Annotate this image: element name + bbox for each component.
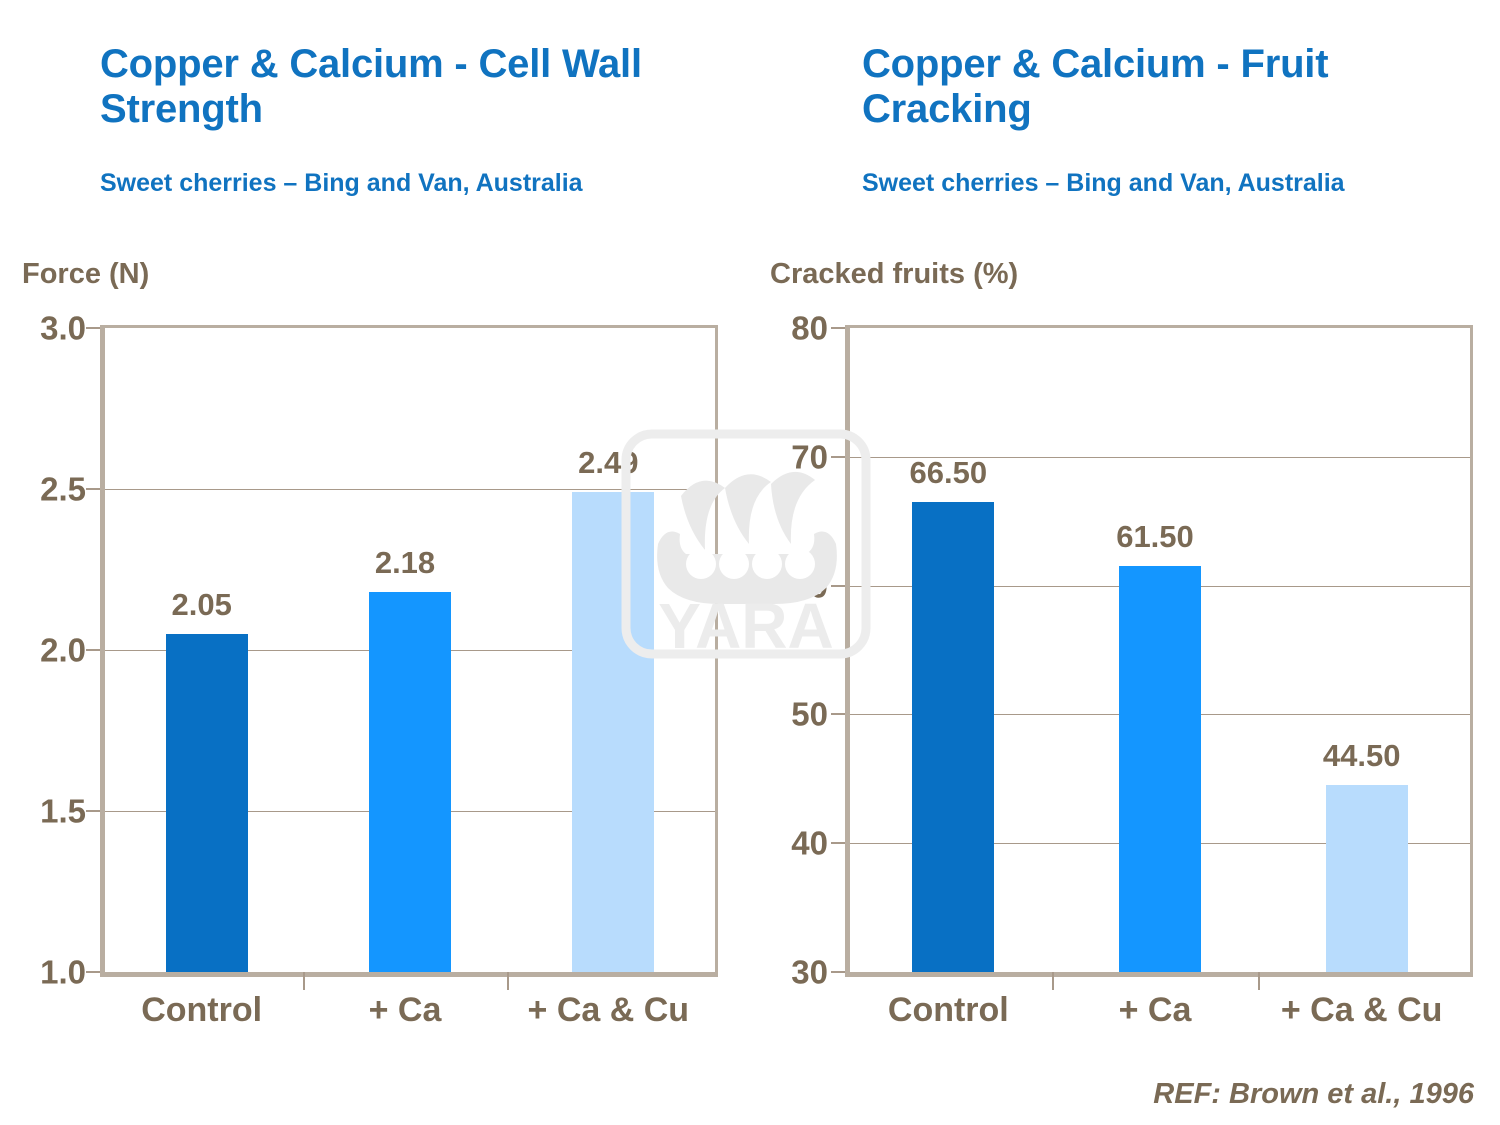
chart-title-right: Copper & Calcium - Fruit Cracking <box>862 42 1342 132</box>
bar-control <box>912 502 994 972</box>
y-tick-mark <box>831 971 845 973</box>
plot-area-right <box>845 325 1473 977</box>
x-tick-mark <box>1258 972 1260 990</box>
y-tick-mark <box>86 649 100 651</box>
y-tick-label: 80 <box>760 312 828 345</box>
chart-panel-fruit-cracking: Copper & Calcium - Fruit Cracking Sweet … <box>750 0 1500 1125</box>
bar-value-label: 2.18 <box>305 545 505 581</box>
x-tick-mark <box>303 972 305 990</box>
chart-title-left: Copper & Calcium - Cell Wall Strength <box>100 42 700 132</box>
reference-citation: REF: Brown et al., 1996 <box>1153 1078 1474 1111</box>
x-tick-mark <box>507 972 509 990</box>
y-tick-label: 2.0 <box>8 634 86 667</box>
bar-value-label: 44.50 <box>1262 738 1462 774</box>
chart-subtitle-right: Sweet cherries – Bing and Van, Australia <box>862 168 1422 199</box>
y-tick-mark <box>831 842 845 844</box>
bar-plus-ca <box>1119 566 1201 972</box>
y-tick-label: 3.0 <box>8 312 86 345</box>
bar-value-label: 2.05 <box>102 587 302 623</box>
y-axis-label-left: Force (N) <box>22 258 149 291</box>
bar-value-label: 2.49 <box>508 445 708 481</box>
x-tick-mark <box>1052 972 1054 990</box>
y-tick-label: 1.5 <box>8 795 86 828</box>
y-tick-mark <box>86 327 100 329</box>
y-tick-label: 40 <box>760 827 828 860</box>
bar-control <box>166 634 248 972</box>
bar-plus-ca-cu <box>572 492 654 972</box>
x-tick-label-plus-ca-cu: + Ca & Cu <box>478 991 738 1030</box>
y-tick-label: 2.5 <box>8 473 86 506</box>
bar-value-label: 66.50 <box>848 455 1048 491</box>
y-tick-label: 50 <box>760 698 828 731</box>
bar-value-label: 61.50 <box>1055 519 1255 555</box>
y-tick-mark <box>86 810 100 812</box>
y-tick-mark <box>86 488 100 490</box>
y-tick-mark <box>831 713 845 715</box>
y-tick-label: 1.0 <box>8 956 86 989</box>
y-tick-mark <box>86 971 100 973</box>
gridline <box>105 489 715 490</box>
y-tick-mark <box>831 456 845 458</box>
y-tick-mark <box>831 585 845 587</box>
bar-plus-ca <box>369 592 451 972</box>
y-tick-mark <box>831 327 845 329</box>
plot-area-left <box>100 325 718 977</box>
chart-panel-cell-wall-strength: Copper & Calcium - Cell Wall Strength Sw… <box>0 0 750 1125</box>
bar-plus-ca-cu <box>1326 785 1408 972</box>
y-axis-label-right: Cracked fruits (%) <box>770 258 1018 291</box>
x-tick-label-plus-ca-cu: + Ca & Cu <box>1232 991 1492 1030</box>
chart-subtitle-left: Sweet cherries – Bing and Van, Australia <box>100 168 660 199</box>
y-tick-label: 60 <box>760 569 828 602</box>
y-tick-label: 70 <box>760 440 828 473</box>
y-tick-label: 30 <box>760 956 828 989</box>
